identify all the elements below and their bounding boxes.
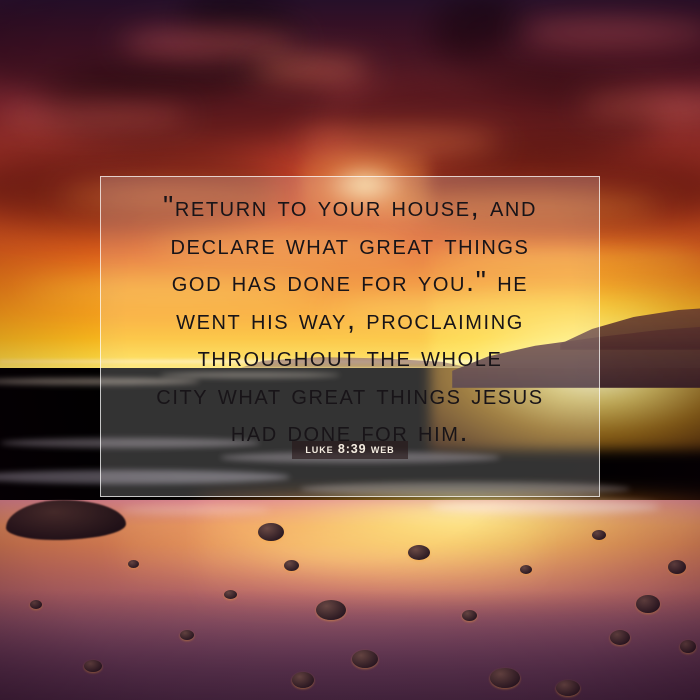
cloud-light bbox=[300, 130, 500, 152]
pebble bbox=[128, 560, 139, 568]
pebble bbox=[408, 545, 430, 560]
pebble bbox=[462, 610, 477, 621]
cloud-light bbox=[250, 58, 370, 78]
pebble bbox=[490, 668, 520, 688]
pebble bbox=[258, 523, 284, 541]
sea-foam bbox=[120, 505, 270, 515]
pebble bbox=[84, 660, 102, 672]
pebble bbox=[520, 565, 532, 574]
pebble bbox=[680, 640, 696, 653]
pebble bbox=[636, 595, 660, 613]
verse-text: "Return to your house, and declare what … bbox=[101, 177, 599, 452]
sea-foam bbox=[430, 500, 660, 514]
pebble bbox=[180, 630, 194, 640]
cloud-light bbox=[120, 30, 300, 56]
citation-wrap: Luke 8:39 WEB bbox=[101, 441, 599, 459]
pebble bbox=[352, 650, 378, 668]
quote-card: "Return to your house, and declare what … bbox=[100, 176, 600, 497]
cloud-light bbox=[0, 105, 190, 125]
pebble bbox=[30, 600, 42, 609]
pebble bbox=[668, 560, 686, 574]
pebble bbox=[292, 672, 314, 688]
pebble bbox=[592, 530, 606, 540]
sand-shadow bbox=[0, 590, 700, 700]
pebble bbox=[316, 600, 346, 620]
pebble bbox=[556, 680, 580, 696]
sun-reflection-secondary bbox=[120, 515, 540, 585]
pebble bbox=[284, 560, 299, 571]
verse-citation: Luke 8:39 WEB bbox=[292, 441, 407, 459]
verse-image: "Return to your house, and declare what … bbox=[0, 0, 700, 700]
pebble bbox=[610, 630, 630, 645]
pebble bbox=[224, 590, 237, 599]
